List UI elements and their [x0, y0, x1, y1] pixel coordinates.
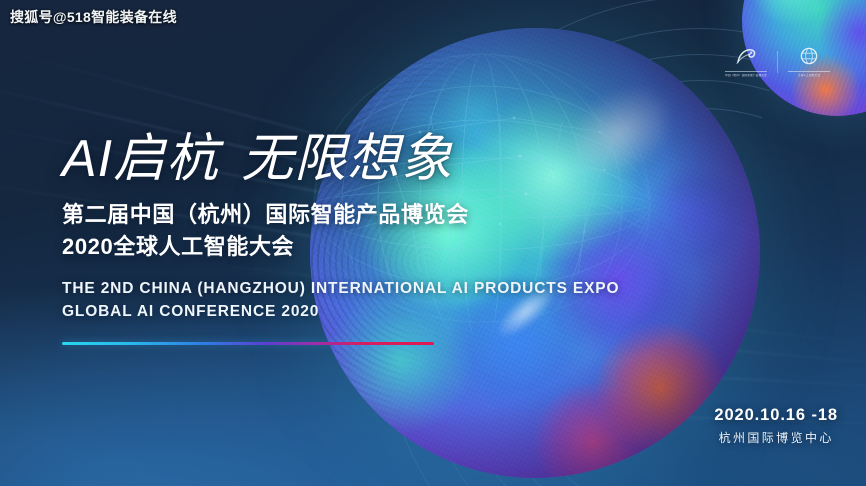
logo-caption: 中国（杭州）国际智能产品博览会: [725, 74, 767, 78]
conference-emblem-icon: [798, 46, 820, 68]
poster-copy-block: AI启杭无限想象 第二届中国（杭州）国际智能产品博览会 2020全球人工智能大会…: [62, 131, 619, 345]
headline-part-2: 无限想象: [241, 130, 453, 188]
organizer-logos: 中国（杭州）国际智能产品博览会 全球人工智能大会: [725, 46, 830, 78]
event-venue: 杭州国际博览中心: [714, 429, 838, 446]
logo-caption: 全球人工智能大会: [798, 74, 820, 78]
subtitle-en-secondary: GLOBAL AI CONFERENCE 2020: [62, 301, 619, 323]
event-date-block: 2020.10.16 -18 杭州国际博览中心: [714, 406, 838, 446]
event-poster: 搜狐号@518智能装备在线 中国（杭州）国际智能产品博览会 全球人工智能大会: [0, 0, 866, 486]
logo-divider: [777, 51, 778, 73]
logo-underline: [725, 71, 767, 72]
subtitle-cn-secondary: 2020全球人工智能大会: [62, 232, 619, 261]
watermark-text: 搜狐号@518智能装备在线: [10, 7, 177, 27]
gradient-divider: [62, 342, 434, 345]
subtitle-cn-primary: 第二届中国（杭州）国际智能产品博览会: [62, 200, 619, 229]
event-date: 2020.10.16 -18: [714, 406, 838, 425]
headline-part-1: AI启杭: [62, 130, 219, 188]
page-title: AI启杭无限想象: [62, 131, 619, 187]
organizer-logo-primary: 中国（杭州）国际智能产品博览会: [725, 46, 767, 78]
organizer-logo-secondary: 全球人工智能大会: [788, 46, 830, 78]
subtitle-en-primary: THE 2ND CHINA (HANGZHOU) INTERNATIONAL A…: [62, 278, 619, 300]
logo-underline: [788, 71, 830, 72]
expo-emblem-icon: [733, 46, 759, 68]
